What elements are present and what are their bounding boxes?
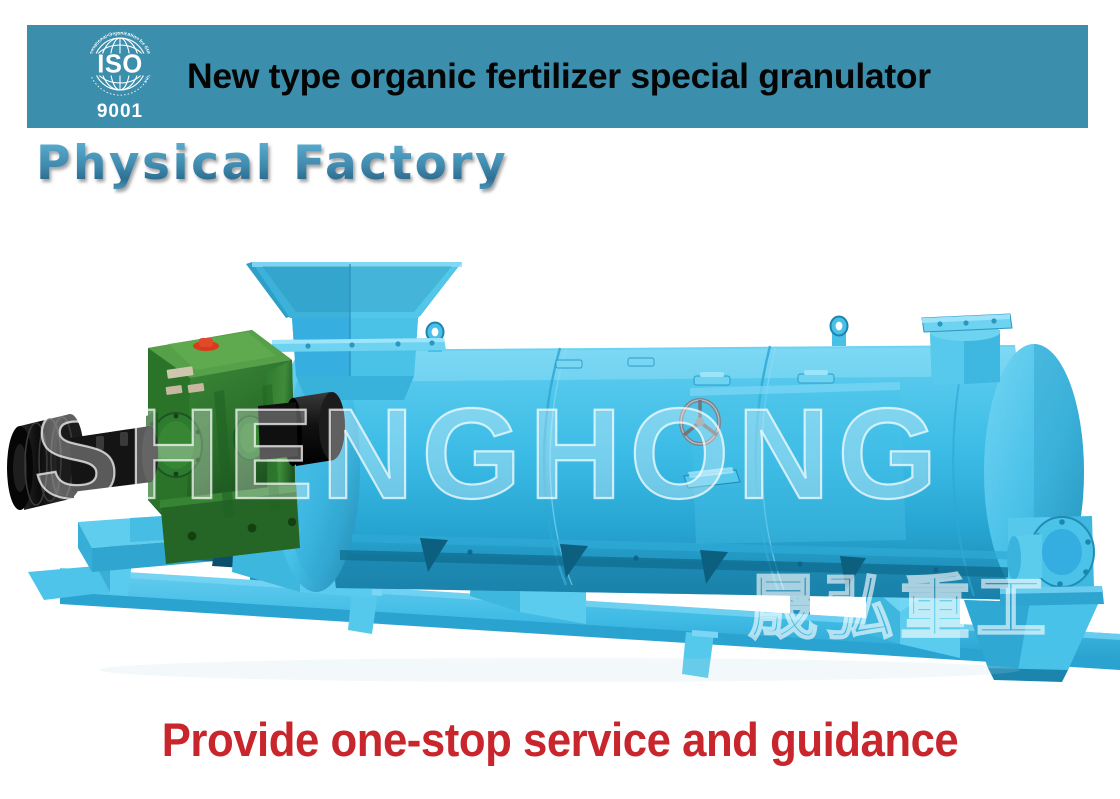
granulator-illustration bbox=[0, 200, 1120, 700]
svg-text:ISO: ISO bbox=[97, 50, 142, 78]
product-photo bbox=[0, 200, 1120, 700]
iso-standard-number: 9001 bbox=[97, 101, 143, 123]
subtitle-physical-factory: Physical Factory bbox=[36, 136, 508, 191]
page-title: New type organic fertilizer special gran… bbox=[187, 25, 931, 128]
belt-pulley bbox=[7, 414, 158, 510]
top-vent-pipe bbox=[922, 314, 1012, 386]
iso-globe-icon: International Organization for Standardi… bbox=[70, 31, 170, 103]
bottom-slogan: Provide one-stop service and guidance bbox=[39, 712, 1081, 767]
header-banner: International Organization for Standardi… bbox=[27, 25, 1088, 128]
lifting-lug bbox=[831, 317, 848, 347]
bearing-housing bbox=[1000, 516, 1104, 606]
product-banner-page: International Organization for Standardi… bbox=[0, 0, 1120, 799]
iso-9001-logo: International Organization for Standardi… bbox=[65, 27, 175, 127]
